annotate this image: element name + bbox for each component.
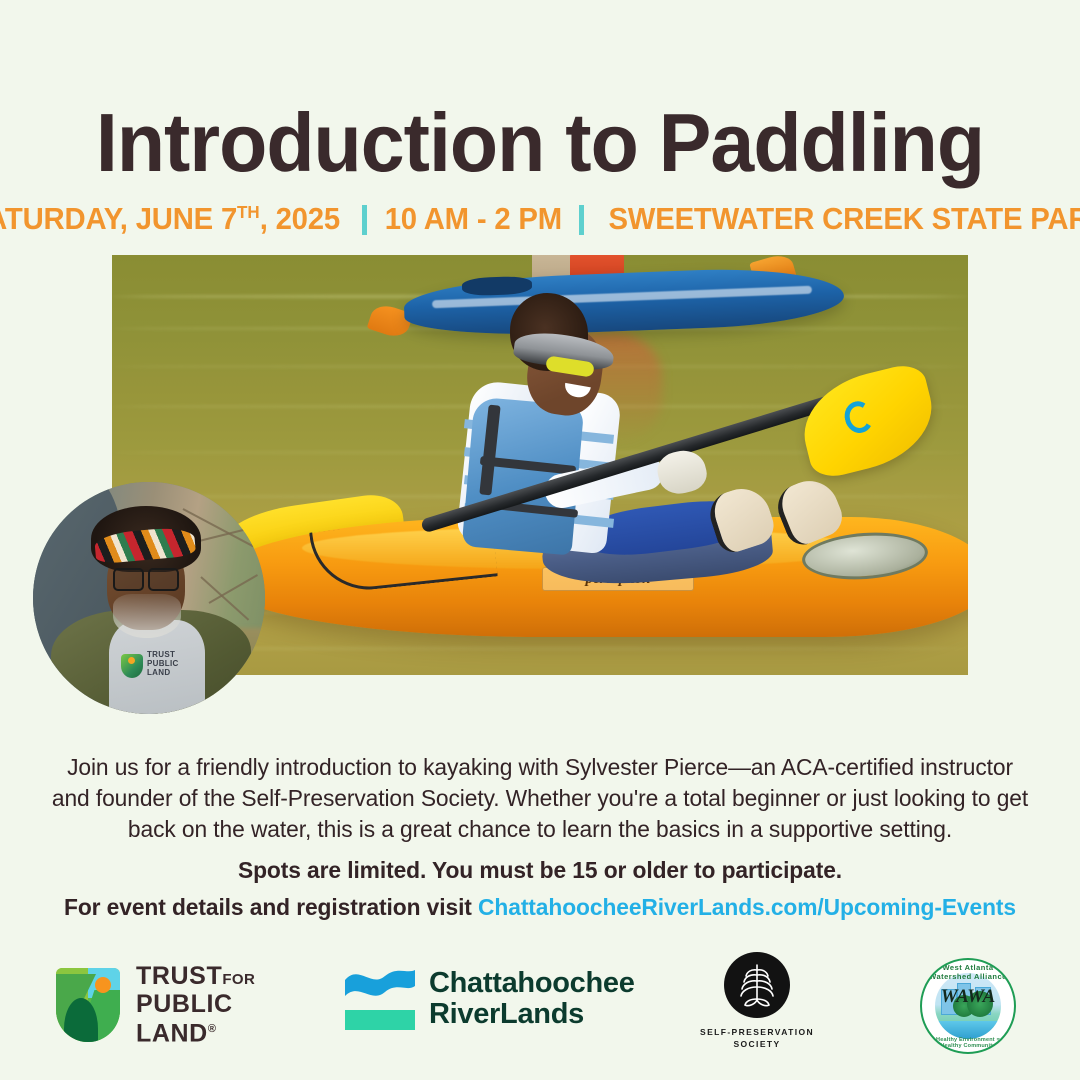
sps-wordmark: SELF-PRESERVATION SOCIETY: [700, 1026, 814, 1050]
event-description: Join us for a friendly introduction to k…: [0, 752, 1080, 923]
partner-logos: TRUSTFOR PUBLIC LAND® Chattahoochee Rive…: [0, 950, 1080, 1062]
registration-prefix: For event details and registration visit: [64, 894, 478, 920]
page-title: Introduction to Paddling: [27, 0, 1053, 184]
wawa-script-text: WAWA: [922, 986, 1014, 1008]
tpl-shield-icon: [56, 968, 120, 1042]
wawa-emblem-icon: WAWA West Atlanta Watershed Alliance A H…: [920, 958, 1016, 1054]
event-date: SATURDAY, JUNE 7TH, 2025: [0, 202, 340, 237]
date-ordinal-suffix: TH: [237, 202, 260, 222]
portrait-tshirt-text: TRUST PUBLIC LAND: [147, 650, 179, 677]
separator-bar-1: [362, 205, 367, 235]
riverlands-green-bar: [345, 1010, 415, 1030]
registration-link[interactable]: ChattahoocheeRiverLands.com/Upcoming-Eve…: [478, 894, 1016, 920]
logo-self-preservation-society: SELF-PRESERVATION SOCIETY: [700, 952, 814, 1050]
logo-west-atlanta-watershed-alliance: WAWA West Atlanta Watershed Alliance A H…: [920, 958, 1016, 1054]
portrait-beard: [113, 594, 181, 638]
separator-bar-2: [579, 205, 584, 235]
event-details-bar: SATURDAY, JUNE 7TH, 2025 10 AM - 2 PM SW…: [0, 202, 1080, 237]
registration-line: For event details and registration visit…: [16, 892, 1064, 923]
event-time: 10 AM - 2 PM: [384, 202, 561, 237]
participation-notice: Spots are limited. You must be 15 or old…: [16, 855, 1064, 886]
portrait-glasses: [113, 568, 179, 587]
riverlands-wordmark: Chattahoochee RiverLands: [429, 968, 635, 1030]
wawa-arc-bottom-text: A Healthy Environment = A Healthy Commun…: [922, 1037, 1014, 1049]
wawa-arc-top-text: West Atlanta Watershed Alliance: [922, 963, 1014, 981]
logo-chattahoochee-riverlands: Chattahoochee RiverLands: [345, 968, 635, 1030]
description-paragraph: Join us for a friendly introduction to k…: [50, 752, 1030, 845]
riverlands-wave-icon: [345, 968, 415, 1030]
logo-trust-for-public-land: TRUSTFOR PUBLIC LAND®: [56, 964, 255, 1046]
portrait-tshirt-sun-icon: [128, 657, 135, 664]
sps-fern-icon: [724, 952, 790, 1018]
tpl-wordmark: TRUSTFOR PUBLIC LAND®: [136, 964, 255, 1046]
instructor-portrait: TRUST PUBLIC LAND: [33, 482, 265, 714]
event-location: SWEETWATER CREEK STATE PARK: [609, 202, 1080, 237]
